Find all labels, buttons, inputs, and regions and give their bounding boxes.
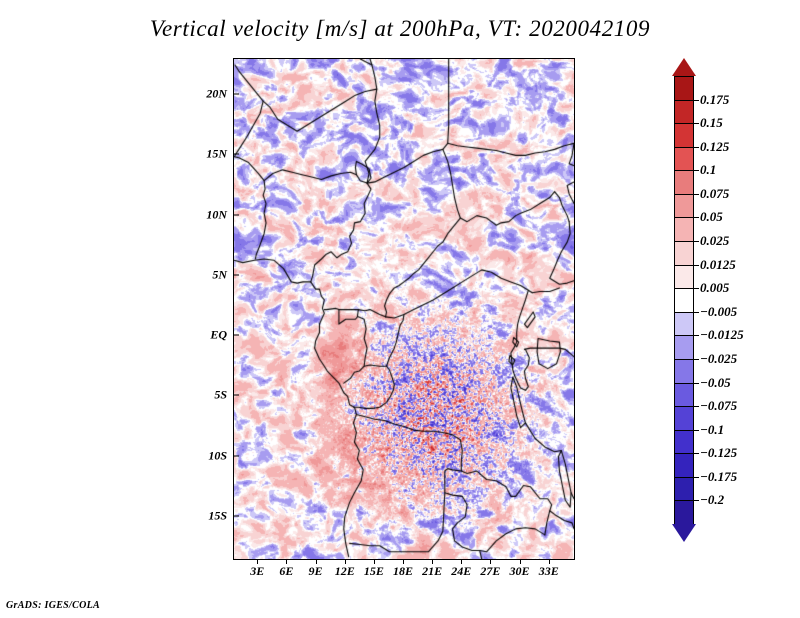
colorbar-swatch [674, 477, 694, 502]
latitude-tick-mark [233, 455, 239, 456]
colorbar-tick-mark [694, 265, 699, 266]
colorbar-tick-mark [694, 430, 699, 431]
colorbar-tick-mark [694, 477, 699, 478]
colorbar-swatch [674, 312, 694, 337]
colorbar-swatch [674, 100, 694, 125]
latitude-tick-label: 15N [206, 147, 227, 162]
colorbar-tick-mark [694, 383, 699, 384]
colorbar-swatch [674, 359, 694, 384]
colorbar-tick-mark [694, 453, 699, 454]
colorbar [674, 76, 694, 524]
colorbar-tick-mark [694, 123, 699, 124]
longitude-tick-label: 9E [309, 564, 323, 579]
colorbar-tick-mark [694, 217, 699, 218]
longitude-tick-mark [257, 559, 258, 564]
latitude-tick-mark [233, 515, 239, 516]
longitude-tick-mark [461, 559, 462, 564]
footer-credit: GrADS: IGES/COLA [6, 600, 100, 611]
colorbar-tick-label: 0.075 [700, 186, 729, 202]
colorbar-bottom-arrow [672, 524, 696, 542]
page-title: Vertical velocity [m/s] at 200hPa, VT: 2… [0, 16, 800, 42]
colorbar-swatch [674, 288, 694, 313]
longitude-tick-label: 15E [364, 564, 384, 579]
colorbar-swatch [674, 383, 694, 408]
latitude-tick-label: 5S [214, 388, 227, 403]
colorbar-tick-label: 0.025 [700, 233, 729, 249]
colorbar-swatch [674, 241, 694, 266]
colorbar-tick-mark [694, 100, 699, 101]
colorbar-swatch [674, 500, 694, 525]
longitude-tick-mark [432, 559, 433, 564]
colorbar-tick-mark [694, 335, 699, 336]
longitude-tick-mark [316, 559, 317, 564]
colorbar-swatch [674, 453, 694, 478]
colorbar-tick-mark [694, 170, 699, 171]
longitude-tick-mark [490, 559, 491, 564]
colorbar-swatch [674, 123, 694, 148]
colorbar-tick-label: −0.1 [700, 422, 724, 438]
colorbar-tick-label: 0.05 [700, 209, 723, 225]
colorbar-tick-label: −0.2 [700, 492, 724, 508]
colorbar-swatch [674, 406, 694, 431]
latitude-tick-label: 15S [208, 508, 227, 523]
colorbar-tick-label: −0.125 [700, 445, 737, 461]
colorbar-tick-label: 0.005 [700, 280, 729, 296]
latitude-tick-label: 10N [206, 207, 227, 222]
colorbar-tick-mark [694, 147, 699, 148]
colorbar-tick-label: −0.025 [700, 351, 737, 367]
latitude-tick-label: 10S [208, 448, 227, 463]
colorbar-tick-label: 0.125 [700, 139, 729, 155]
colorbar-tick-label: −0.05 [700, 375, 731, 391]
longitude-tick-mark [374, 559, 375, 564]
colorbar-tick-label: −0.075 [700, 398, 737, 414]
colorbar-tick-mark [694, 359, 699, 360]
map-plot-area [233, 58, 575, 560]
colorbar-swatch [674, 335, 694, 360]
latitude-axis: 20N15N10N5NEQ5S10S15S [170, 0, 227, 618]
colorbar-swatch [674, 217, 694, 242]
colorbar-tick-label: −0.175 [700, 469, 737, 485]
colorbar-tick-mark [694, 194, 699, 195]
colorbar-tick-label: −0.005 [700, 304, 737, 320]
colorbar-swatch [674, 170, 694, 195]
longitude-tick-mark [403, 559, 404, 564]
longitude-tick-label: 18E [393, 564, 413, 579]
colorbar-tick-mark [694, 312, 699, 313]
colorbar-tick-mark [694, 241, 699, 242]
longitude-tick-mark [520, 559, 521, 564]
latitude-tick-mark [233, 335, 239, 336]
longitude-tick-label: 30E [510, 564, 530, 579]
colorbar-tick-mark [694, 500, 699, 501]
colorbar-swatch [674, 147, 694, 172]
colorbar-tick-label: −0.0125 [700, 327, 744, 343]
colorbar-swatch [674, 194, 694, 219]
longitude-tick-label: 24E [451, 564, 471, 579]
colorbar-swatch [674, 76, 694, 101]
longitude-tick-mark [286, 559, 287, 564]
colorbar-tick-label: 0.15 [700, 115, 723, 131]
longitude-tick-mark [549, 559, 550, 564]
longitude-tick-mark [345, 559, 346, 564]
colorbar-swatch [674, 265, 694, 290]
longitude-tick-label: 21E [422, 564, 442, 579]
longitude-tick-label: 3E [250, 564, 264, 579]
latitude-tick-label: 5N [212, 267, 227, 282]
latitude-tick-mark [233, 395, 239, 396]
latitude-tick-mark [233, 154, 239, 155]
longitude-tick-label: 27E [480, 564, 500, 579]
colorbar-swatch [674, 430, 694, 455]
longitude-tick-label: 33E [539, 564, 559, 579]
longitude-tick-label: 6E [279, 564, 293, 579]
colorbar-tick-label: 0.175 [700, 92, 729, 108]
latitude-tick-label: EQ [210, 328, 227, 343]
country-borders-overlay [234, 59, 574, 559]
latitude-tick-label: 20N [206, 87, 227, 102]
colorbar-tick-label: 0.1 [700, 162, 716, 178]
colorbar-top-arrow [672, 58, 696, 76]
colorbar-tick-mark [694, 288, 699, 289]
latitude-tick-mark [233, 274, 239, 275]
colorbar-tick-label: 0.0125 [700, 257, 736, 273]
latitude-tick-mark [233, 214, 239, 215]
latitude-tick-mark [233, 94, 239, 95]
colorbar-tick-mark [694, 406, 699, 407]
longitude-tick-label: 12E [335, 564, 355, 579]
